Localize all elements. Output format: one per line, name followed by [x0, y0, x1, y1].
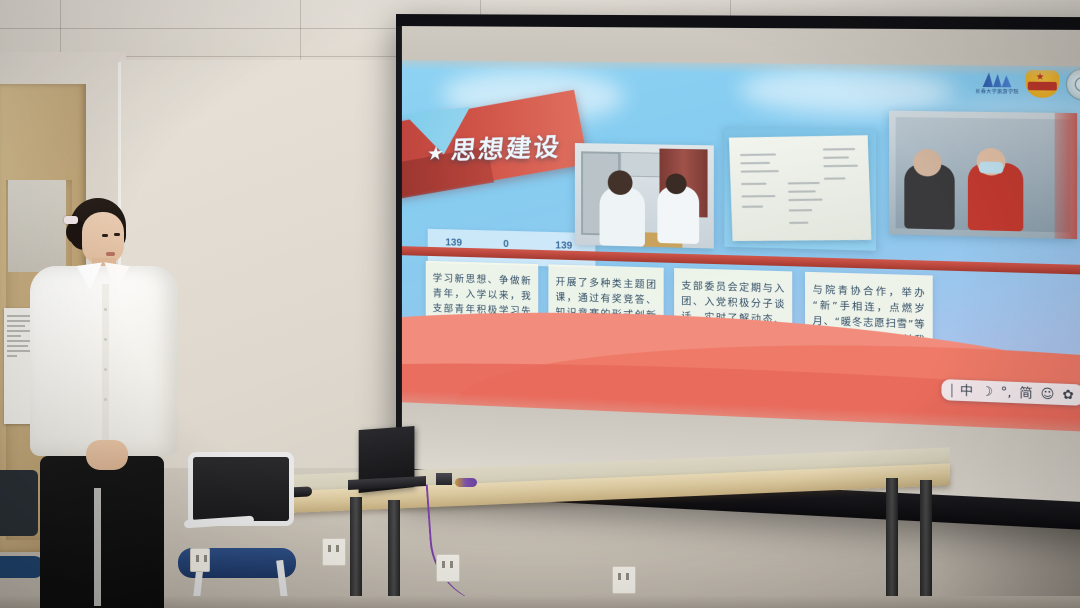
university-mark-icon	[983, 72, 1012, 87]
screen-surface: 长春大学旅游学院 ★ ★思想建设	[402, 26, 1080, 503]
desk-leg	[350, 497, 362, 607]
wall-socket[interactable]	[322, 538, 346, 566]
university-name: 长春大学旅游学院	[975, 88, 1018, 95]
desk-leg	[388, 500, 400, 608]
slide-title: ★思想建设	[425, 127, 563, 168]
settings-gear-icon[interactable]: ✿	[1062, 387, 1073, 402]
desk-leg	[920, 480, 932, 608]
presenter-hands	[86, 440, 128, 470]
desk-leg	[886, 478, 898, 608]
chair-backrest	[188, 452, 294, 526]
presenter-eye	[114, 233, 120, 236]
emoji-icon[interactable]: ☺	[1041, 386, 1055, 401]
chinese-mode-icon[interactable]: 中	[960, 383, 973, 398]
photo-handwritten-document	[724, 127, 876, 251]
wall-socket[interactable]	[436, 554, 460, 582]
presenter	[24, 198, 184, 608]
simplified-mode-icon[interactable]: 简	[1019, 385, 1032, 400]
slide-title-text: 思想建设	[450, 132, 563, 165]
office-chair[interactable]	[170, 452, 320, 608]
college-seal-icon	[1066, 68, 1080, 100]
presenter-face	[82, 212, 124, 264]
university-logo: 长春大学旅游学院	[975, 72, 1018, 95]
presenter-mouth	[106, 252, 115, 256]
wall-socket[interactable]	[190, 548, 210, 572]
presentation-slide: 长春大学旅游学院 ★ ★思想建设	[402, 60, 1080, 433]
screenshot-root: 长春大学旅游学院 ★ ★思想建设	[0, 0, 1080, 608]
photo-volunteer-service	[889, 111, 1077, 239]
presenter-trousers	[40, 456, 164, 608]
star-icon: ★	[426, 142, 447, 165]
presenter-eye	[102, 234, 108, 237]
slide-logos: 长春大学旅游学院 ★	[975, 67, 1080, 100]
projection-screen: 长春大学旅游学院 ★ ★思想建设	[396, 14, 1080, 531]
wall-socket[interactable]	[612, 566, 636, 594]
shirt-tail	[94, 488, 101, 606]
photo-classroom-discussion	[575, 143, 714, 249]
moon-icon[interactable]: ☽	[981, 384, 993, 399]
youth-league-emblem-icon: ★	[1026, 70, 1060, 98]
punctuation-icon[interactable]: °,	[1001, 385, 1012, 400]
cursor-bar-icon	[951, 383, 952, 397]
hair-clip-icon	[64, 216, 78, 224]
